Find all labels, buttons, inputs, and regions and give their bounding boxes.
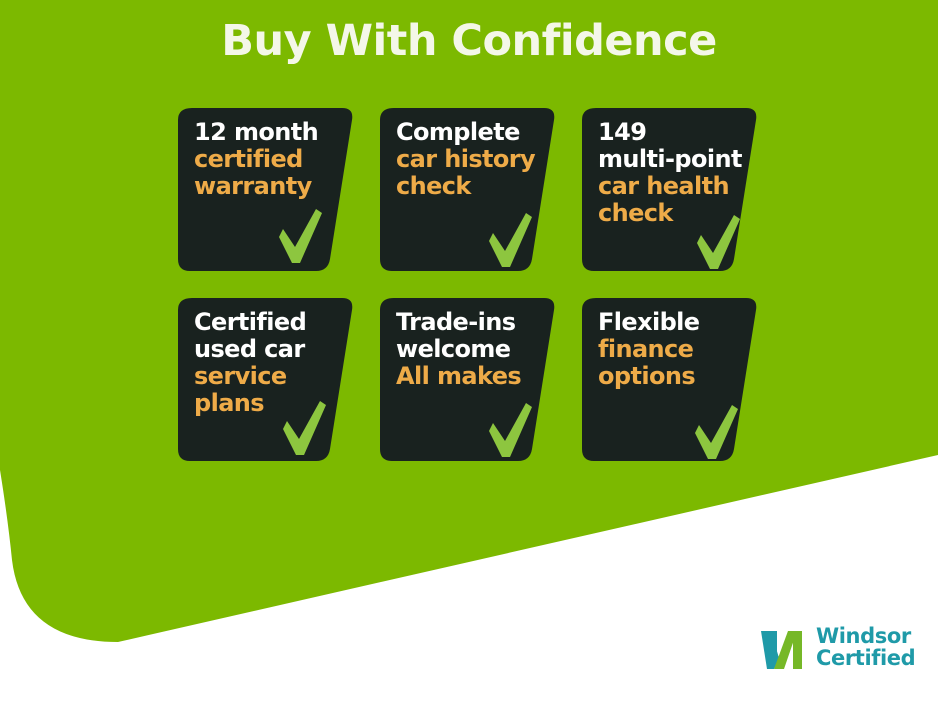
check-icon bbox=[486, 401, 534, 459]
check-icon bbox=[694, 213, 742, 271]
card-12-month-certified-warranty[interactable]: 12 month certified warranty bbox=[178, 108, 354, 271]
logo-line-1: Windsor bbox=[816, 625, 915, 647]
card-line: All makes bbox=[396, 363, 542, 390]
card-line: options bbox=[598, 363, 744, 390]
card-text: Trade-ins welcome All makes bbox=[396, 309, 542, 390]
logo-wordmark: Windsor Certified bbox=[816, 625, 915, 670]
card-line: Trade-ins bbox=[396, 309, 542, 336]
feature-card-grid: 12 month certified warranty Complete car… bbox=[178, 108, 758, 488]
card-text: 149 multi-point car health check bbox=[598, 119, 744, 227]
page-title: Buy With Confidence bbox=[0, 16, 938, 66]
card-text: Flexible finance options bbox=[598, 309, 744, 390]
card-line: warranty bbox=[194, 173, 340, 200]
brand-logo[interactable]: Windsor Certified bbox=[757, 622, 915, 672]
card-line: used car bbox=[194, 336, 340, 363]
promo-graphic: Buy With Confidence 12 month certified w… bbox=[0, 0, 938, 704]
card-line: check bbox=[396, 173, 542, 200]
card-line: Complete bbox=[396, 119, 542, 146]
card-line: certified bbox=[194, 146, 340, 173]
card-line: 149 bbox=[598, 119, 744, 146]
check-icon bbox=[280, 399, 328, 457]
card-text: 12 month certified warranty bbox=[194, 119, 340, 200]
windsor-w-mark-icon bbox=[757, 622, 807, 672]
card-line: car health bbox=[598, 173, 744, 200]
card-line: welcome bbox=[396, 336, 542, 363]
card-row-1: 12 month certified warranty Complete car… bbox=[178, 108, 758, 271]
check-icon bbox=[486, 211, 534, 269]
card-row-2: Certified used car service plans Trade-i… bbox=[178, 298, 758, 461]
logo-line-2: Certified bbox=[816, 647, 915, 669]
card-complete-car-history-check[interactable]: Complete car history check bbox=[380, 108, 556, 271]
card-line: service bbox=[194, 363, 340, 390]
card-line: car history bbox=[396, 146, 542, 173]
card-flexible-finance-options[interactable]: Flexible finance options bbox=[582, 298, 758, 461]
check-icon bbox=[276, 207, 324, 265]
card-line: multi-point bbox=[598, 146, 744, 173]
card-certified-used-car-service-plans[interactable]: Certified used car service plans bbox=[178, 298, 354, 461]
check-icon bbox=[692, 403, 740, 461]
card-line: 12 month bbox=[194, 119, 340, 146]
card-trade-ins-welcome-all-makes[interactable]: Trade-ins welcome All makes bbox=[380, 298, 556, 461]
card-line: finance bbox=[598, 336, 744, 363]
card-149-multi-point-car-health-check[interactable]: 149 multi-point car health check bbox=[582, 108, 758, 271]
card-line: Certified bbox=[194, 309, 340, 336]
card-line: Flexible bbox=[598, 309, 744, 336]
card-text: Complete car history check bbox=[396, 119, 542, 200]
